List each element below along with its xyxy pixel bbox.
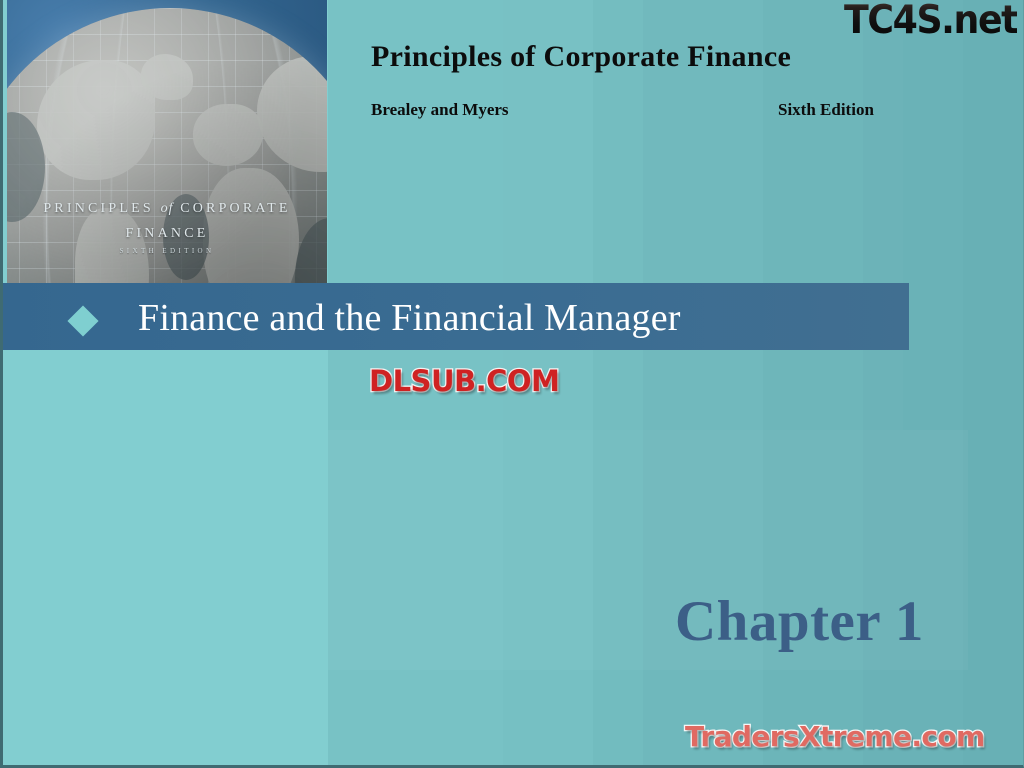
cover-title-finance: FINANCE bbox=[125, 226, 208, 241]
cover-title: PRINCIPLES of CORPORATE FINANCE bbox=[7, 196, 327, 246]
cover-title-principles: PRINCIPLES bbox=[43, 201, 154, 216]
section-title: Finance and the Financial Manager bbox=[138, 296, 681, 340]
book-edition: Sixth Edition bbox=[778, 100, 874, 120]
watermark-dlsub: DLSUB.COM bbox=[369, 364, 559, 398]
book-authors: Brealey and Myers bbox=[371, 100, 509, 120]
cover-title-corporate: CORPORATE bbox=[180, 201, 290, 216]
presentation-slide: PRINCIPLES of CORPORATE FINANCE SIXTH ED… bbox=[0, 0, 1024, 768]
watermark-tc4s: TC4S.net bbox=[844, 0, 1017, 43]
page-title: Principles of Corporate Finance bbox=[371, 40, 791, 74]
watermark-tradersxtreme: TradersXtreme.com bbox=[685, 720, 985, 753]
chapter-label: Chapter 1 bbox=[675, 589, 924, 654]
cover-edition: SIXTH EDITION bbox=[7, 247, 327, 255]
cover-title-of: of bbox=[161, 201, 174, 216]
book-cover-image: PRINCIPLES of CORPORATE FINANCE SIXTH ED… bbox=[7, 0, 327, 283]
